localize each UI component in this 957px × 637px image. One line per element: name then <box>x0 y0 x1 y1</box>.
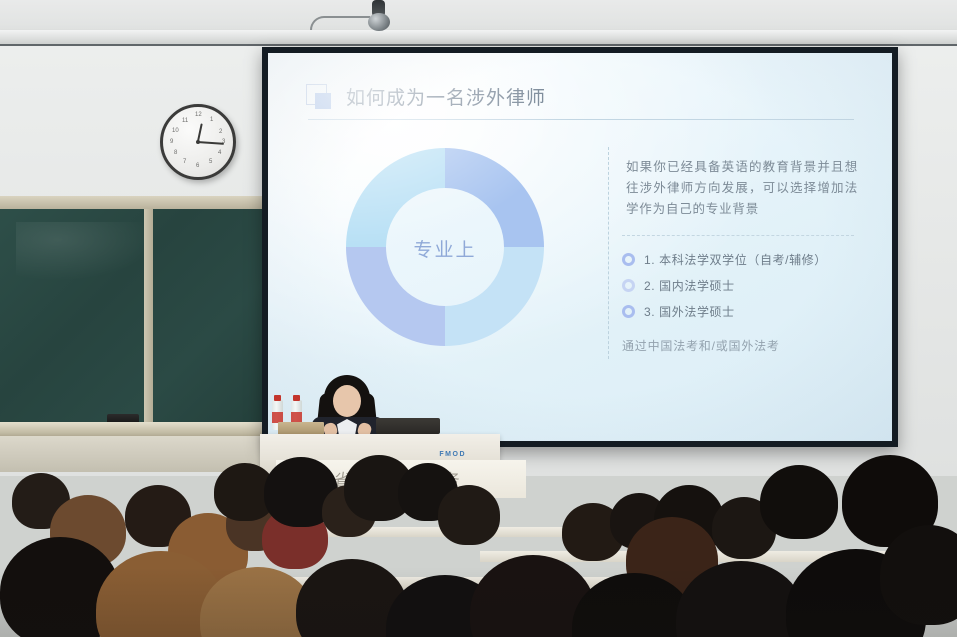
clock-numeral: 10 <box>172 128 179 134</box>
microphone-dome <box>368 13 390 31</box>
audience-head <box>438 485 500 545</box>
clock-numeral: 8 <box>174 150 177 156</box>
audience-head <box>760 465 838 539</box>
clock-numeral: 1 <box>210 117 213 123</box>
list-item: 2. 国内法学硕士 <box>622 277 862 294</box>
donut-center-label: 专业上 <box>346 235 544 262</box>
ring-bullet-icon <box>622 305 635 318</box>
ring-bullet-icon <box>622 253 635 266</box>
microphone-wire <box>310 16 370 30</box>
chalkboard-frame-top <box>0 196 272 209</box>
slide-title: 如何成为一名涉外律师 <box>346 83 546 110</box>
presenter-face <box>333 385 361 417</box>
list-item: 3. 国外法学硕士 <box>622 303 862 320</box>
ceiling-microphone-icon <box>366 0 392 30</box>
ring-bullet-icon <box>622 279 635 292</box>
title-underline <box>308 119 854 120</box>
clock-numeral: 2 <box>219 129 222 135</box>
lecture-hall-scene: 12 1 2 3 4 5 6 7 8 9 10 11 如何成为一名涉外律师 <box>0 0 957 637</box>
clock-numeral: 5 <box>209 159 212 165</box>
clock-numeral: 7 <box>183 159 186 165</box>
bottle-cap <box>293 395 300 401</box>
donut-chart: 专业上 <box>346 148 544 346</box>
vertical-dashed-divider <box>608 147 609 359</box>
list-item: 1. 本科法学双学位（自考/辅修） <box>622 251 862 268</box>
chalkboard-surface <box>0 209 272 422</box>
clock-numeral: 4 <box>218 150 221 156</box>
chalkboard-divider <box>144 209 153 422</box>
horizontal-dashed-divider <box>622 235 854 236</box>
slide-title-row: 如何成为一名涉外律师 <box>306 83 546 110</box>
audience <box>0 455 957 637</box>
list-item-label: 1. 本科法学双学位（自考/辅修） <box>644 251 827 268</box>
list-item-label: 3. 国外法学硕士 <box>644 303 735 320</box>
clock-numeral: 12 <box>195 112 202 118</box>
slide-footnote: 通过中国法考和/或国外法考 <box>622 337 780 354</box>
clock-numeral: 6 <box>196 163 199 169</box>
clock-numeral: 9 <box>170 139 173 145</box>
bottle-cap <box>274 395 281 401</box>
chalkboard <box>0 196 272 440</box>
square-outline-with-filled-square-icon <box>306 84 332 110</box>
desk-laptop <box>376 418 440 434</box>
clock-numeral: 11 <box>182 118 188 124</box>
list-item-label: 2. 国内法学硕士 <box>644 277 735 294</box>
square-filled-part <box>315 93 331 109</box>
clock-center-pin <box>196 140 200 144</box>
slide-bullet-list: 1. 本科法学双学位（自考/辅修） 2. 国内法学硕士 3. 国外法学硕士 <box>622 251 862 329</box>
clock-minute-hand <box>198 141 224 145</box>
slide-paragraph: 如果你已经具备英语的教育背景并且想往涉外律师方向发展，可以选择增加法学作为自己的… <box>626 157 858 220</box>
wall-clock: 12 1 2 3 4 5 6 7 8 9 10 11 <box>160 104 236 180</box>
